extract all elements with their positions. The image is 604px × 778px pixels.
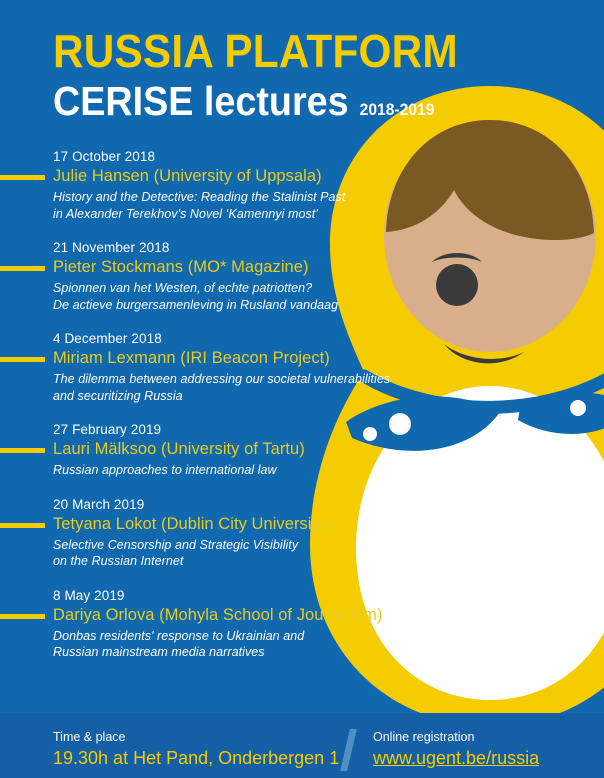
lecture-date: 21 November 2018: [53, 239, 420, 256]
lecture-description-line: Russian approaches to international law: [53, 462, 420, 479]
lecture-item: 4 December 2018 Miriam Lexmann (IRI Beac…: [0, 330, 420, 404]
academic-year-label: 2018-2019: [360, 100, 435, 120]
doll-eyebrow: [432, 253, 482, 262]
lecture-date: 4 December 2018: [53, 330, 420, 347]
page-subtitle: CERISE lectures: [53, 80, 349, 122]
page-subtitle-row: CERISE lectures 2018-2019: [53, 80, 458, 122]
lecture-list: 17 October 2018 Julie Hansen (University…: [0, 148, 420, 678]
lecture-speaker: Dariya Orlova (Mohyla School of Journali…: [53, 604, 420, 626]
lecture-speaker: Tetyana Lokot (Dublin City University): [53, 513, 420, 535]
lecture-speaker-row: Miriam Lexmann (IRI Beacon Project): [0, 347, 420, 371]
lecture-speaker-row: Lauri Mälksoo (University of Tartu): [0, 438, 420, 462]
bullet-dash-icon: [0, 614, 45, 619]
lecture-description-line: in Alexander Terekhov’s Novel ‘Kamennyi …: [53, 206, 420, 223]
time-place-label: Time & place: [53, 729, 339, 745]
lecture-speaker-row: Dariya Orlova (Mohyla School of Journali…: [0, 604, 420, 628]
lecture-item: 8 May 2019 Dariya Orlova (Mohyla School …: [0, 587, 420, 661]
lecture-description-line: History and the Detective: Reading the S…: [53, 189, 420, 206]
lecture-speaker: Pieter Stockmans (MO* Magazine): [53, 256, 420, 278]
poster-header: RUSSIA PLATFORM CERISE lectures 2018-201…: [53, 28, 493, 122]
lecture-date: 8 May 2019: [53, 587, 420, 604]
lecture-date: 20 March 2019: [53, 496, 420, 513]
lecture-description-line: and securitizing Russia: [53, 388, 420, 405]
lecture-item: 27 February 2019 Lauri Mälksoo (Universi…: [0, 421, 420, 479]
footer-registration: Online registration www.ugent.be/russia: [373, 729, 539, 770]
lecture-item: 17 October 2018 Julie Hansen (University…: [0, 148, 420, 222]
lecture-date: 17 October 2018: [53, 148, 420, 165]
footer-time-place: Time & place 19.30h at Het Pand, Onderbe…: [53, 729, 339, 770]
doll-eye: [436, 264, 478, 306]
lecture-speaker-row: Tetyana Lokot (Dublin City University): [0, 513, 420, 537]
lecture-description-line: on the Russian Internet: [53, 553, 420, 570]
page-title: RUSSIA PLATFORM: [53, 28, 458, 74]
registration-url-link[interactable]: www.ugent.be/russia: [373, 746, 539, 770]
lecture-date: 27 February 2019: [53, 421, 420, 438]
lecture-description-line: De actieve burgersamenleving in Rusland …: [53, 297, 420, 314]
lecture-speaker: Lauri Mälksoo (University of Tartu): [53, 438, 420, 460]
lecture-item: 21 November 2018 Pieter Stockmans (MO* M…: [0, 239, 420, 313]
lecture-speaker-row: Pieter Stockmans (MO* Magazine): [0, 256, 420, 280]
lecture-description-line: Selective Censorship and Strategic Visib…: [53, 537, 420, 554]
registration-label: Online registration: [373, 729, 539, 745]
time-place-value: 19.30h at Het Pand, Onderbergen 1: [53, 746, 339, 770]
lecture-item: 20 March 2019 Tetyana Lokot (Dublin City…: [0, 496, 420, 570]
doll-leaf-dot: [570, 400, 586, 416]
lecture-description-line: Spionnen van het Westen, of echte patrio…: [53, 280, 420, 297]
bullet-dash-icon: [0, 448, 45, 453]
lecture-description-line: The dilemma between addressing our socie…: [53, 371, 420, 388]
poster-footer: Time & place 19.30h at Het Pand, Onderbe…: [0, 713, 604, 778]
lecture-speaker: Miriam Lexmann (IRI Beacon Project): [53, 347, 420, 369]
bullet-dash-icon: [0, 266, 45, 271]
lecture-speaker-row: Julie Hansen (University of Uppsala): [0, 165, 420, 189]
bullet-dash-icon: [0, 357, 45, 362]
separator-slash-icon: [340, 729, 357, 771]
bullet-dash-icon: [0, 523, 45, 528]
lecture-description-line: Russian mainstream media narratives: [53, 644, 420, 661]
poster: RUSSIA PLATFORM CERISE lectures 2018-201…: [0, 0, 604, 778]
lecture-speaker: Julie Hansen (University of Uppsala): [53, 165, 420, 187]
doll-smile: [444, 344, 524, 363]
lecture-description-line: Donbas residents' response to Ukrainian …: [53, 628, 420, 645]
bullet-dash-icon: [0, 175, 45, 180]
doll-leaf-right: [518, 392, 604, 434]
